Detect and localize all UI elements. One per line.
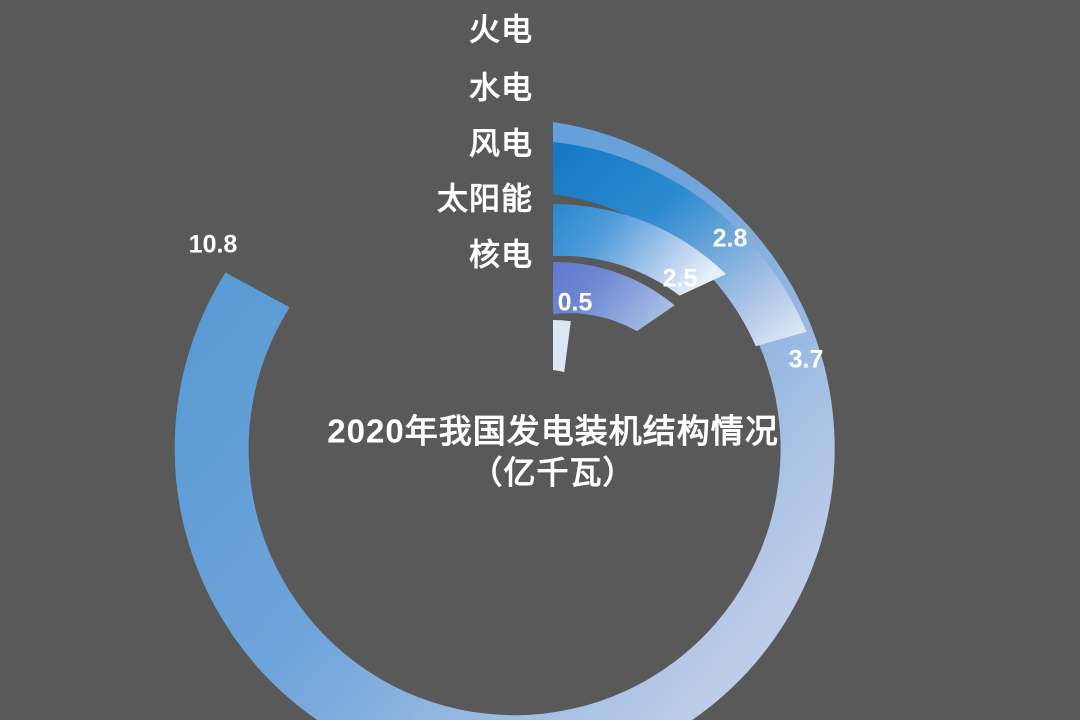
category-label-shuidian: 水电 [469, 73, 533, 104]
value-label-shuidian: 3.7 [789, 348, 824, 373]
chart-canvas: 火电 水电 风电 太阳能 核电 10.8 3.7 2.8 2.5 0.5 202… [0, 0, 1080, 720]
value-label-hedian: 0.5 [558, 291, 593, 316]
category-label-fengdian: 风电 [469, 129, 533, 160]
value-label-taiyangneng: 2.5 [663, 267, 698, 292]
value-label-huodian: 10.8 [189, 233, 238, 258]
radial-bar-chart [0, 0, 1080, 720]
chart-title: 2020年我国发电装机结构情况 （亿千瓦） [327, 410, 778, 493]
category-label-huodian: 火电 [469, 15, 533, 46]
category-label-taiyangneng: 太阳能 [437, 184, 533, 215]
category-label-hedian: 核电 [469, 240, 533, 271]
chart-title-line2: （亿千瓦） [327, 453, 778, 494]
bar-arc-hedian [553, 320, 571, 372]
value-label-fengdian: 2.8 [713, 227, 748, 252]
chart-title-line1: 2020年我国发电装机结构情况 [327, 410, 778, 452]
